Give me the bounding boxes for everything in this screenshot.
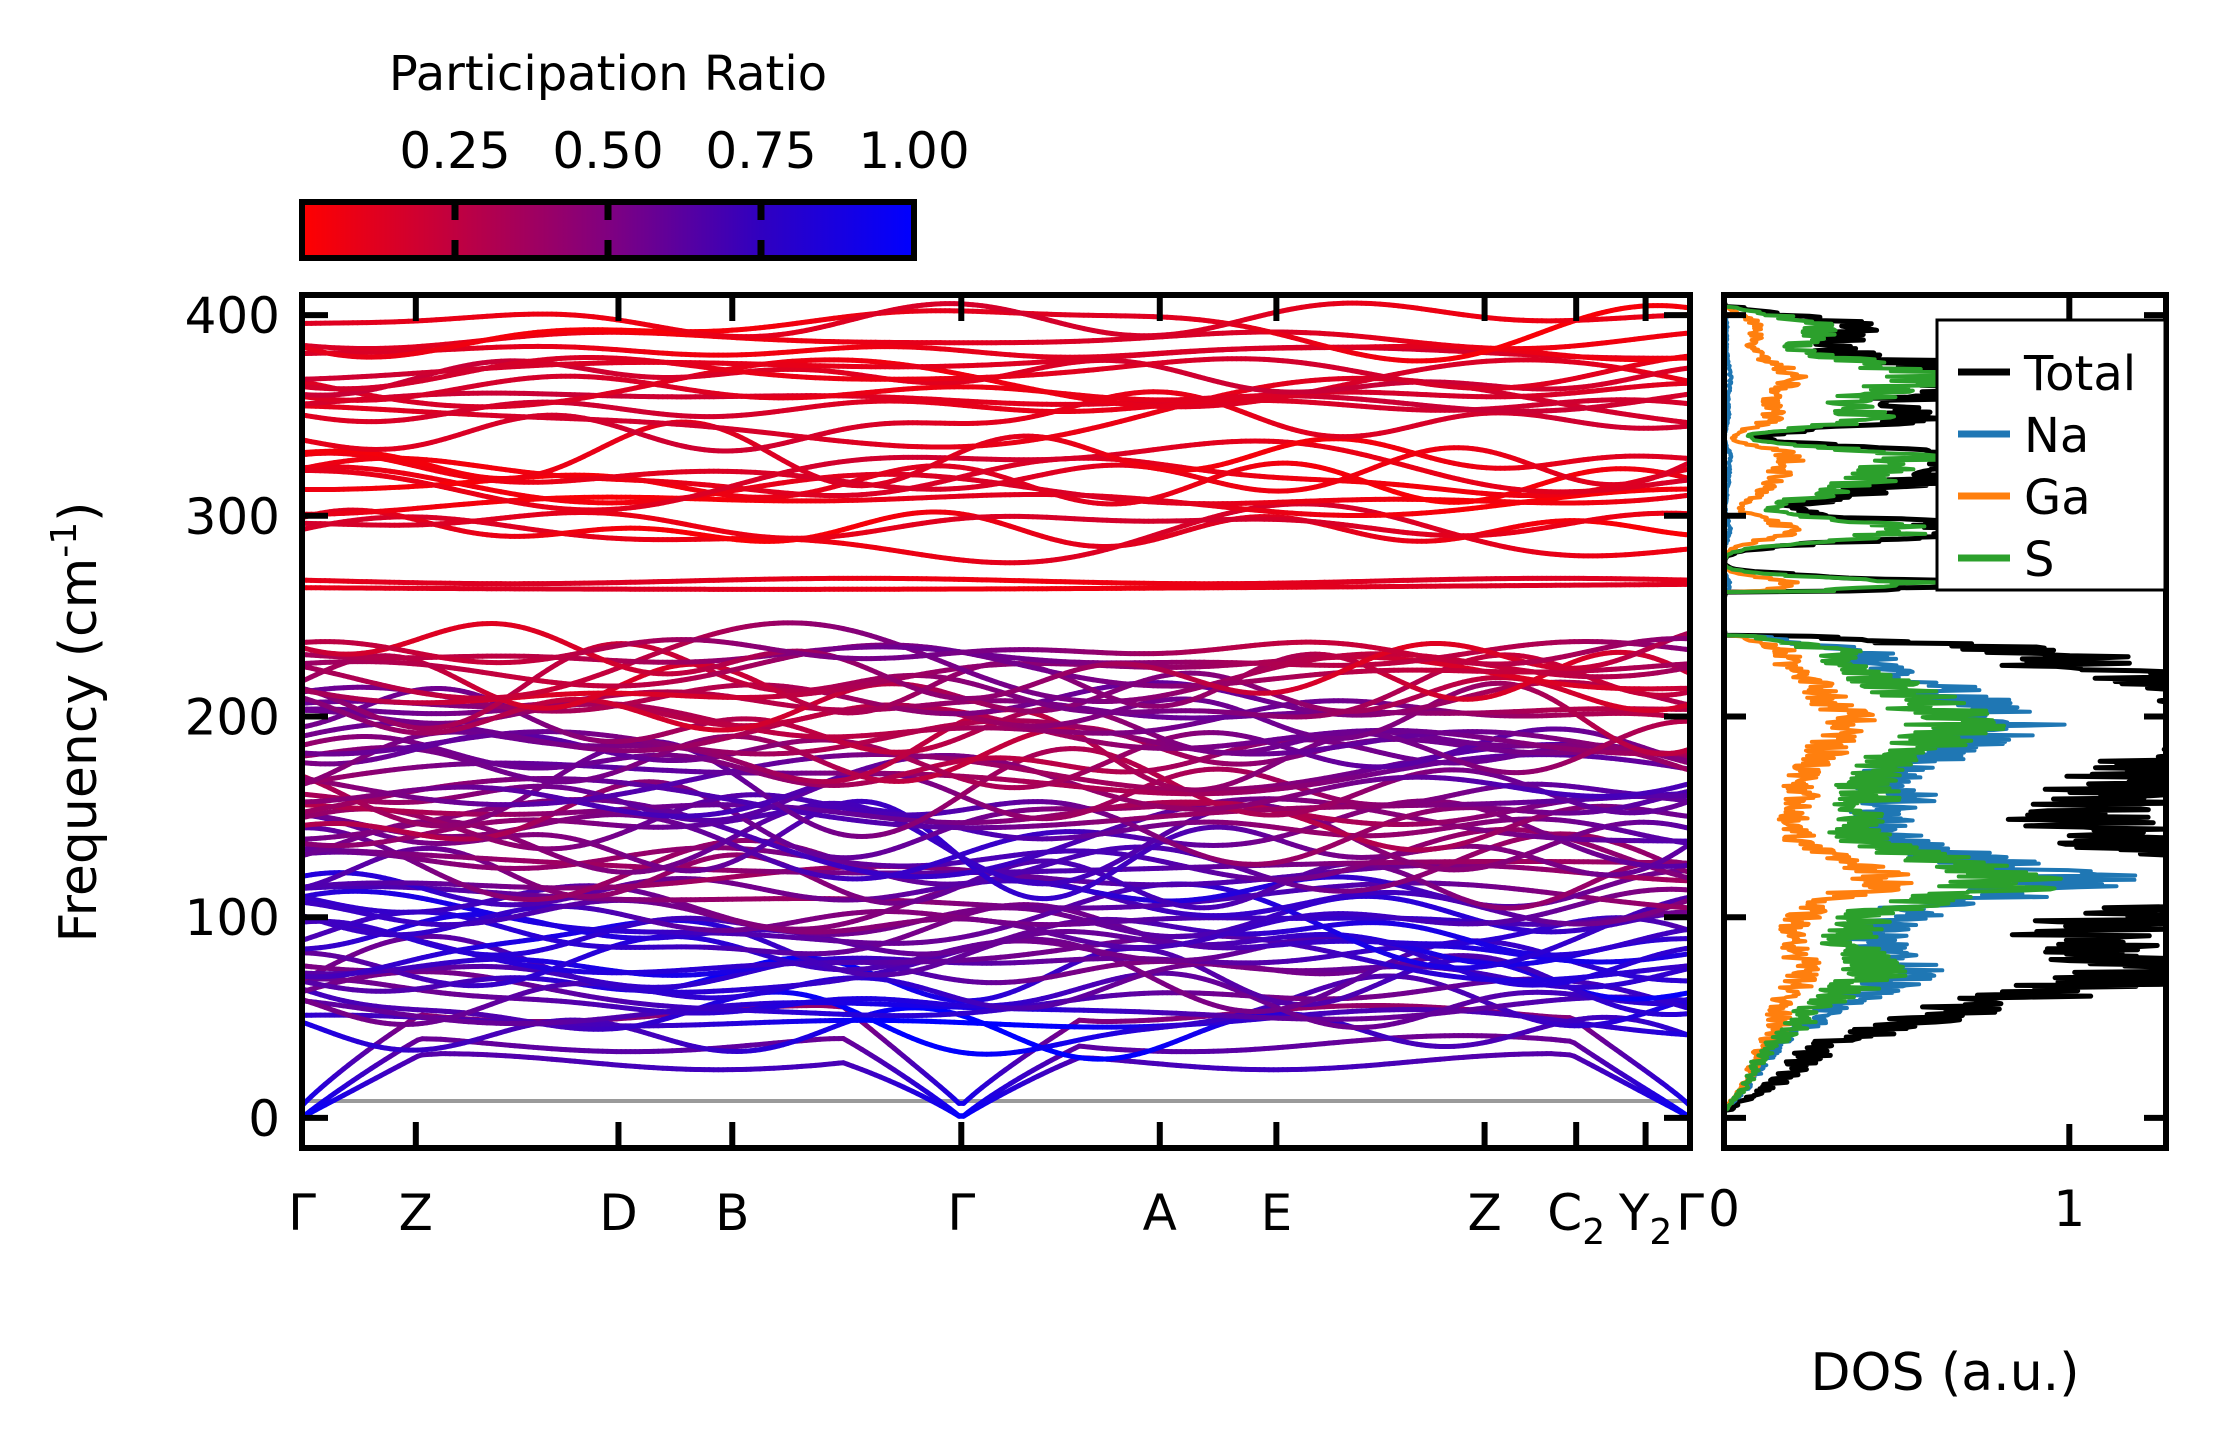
colorbar-tick-label: 0.50 <box>552 122 663 180</box>
colorbar-title: Participation Ratio <box>389 46 827 102</box>
colorbar-tick-label: 1.00 <box>858 122 969 180</box>
phonon-figure: Participation Ratio 0.250.500.751.00 010… <box>0 0 2222 1455</box>
colorbar-tick-label: 0.25 <box>399 122 510 180</box>
figure-canvas: Participation Ratio 0.250.500.751.00 010… <box>0 0 2222 1455</box>
colorbar-tick-label: 0.75 <box>705 122 816 180</box>
